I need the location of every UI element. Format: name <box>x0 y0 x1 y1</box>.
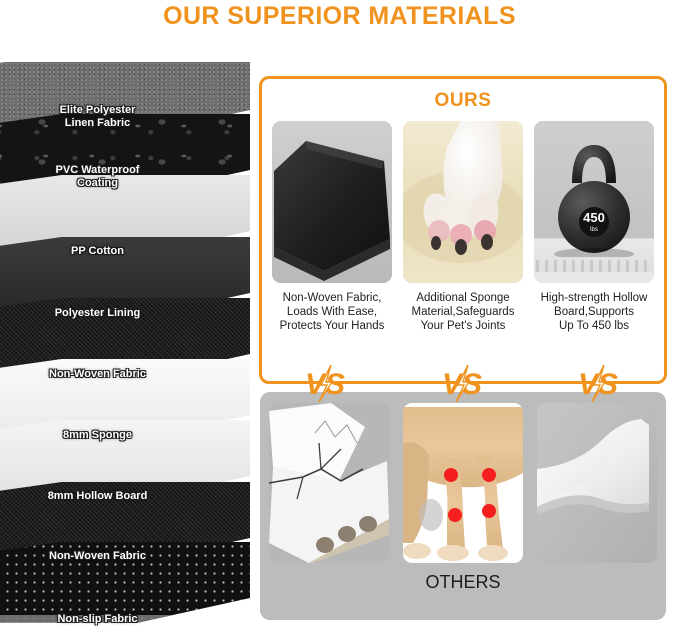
pain-dot <box>482 468 496 482</box>
ours-caption-2: Additional Sponge Material,Safeguards Yo… <box>399 291 527 333</box>
others-heading: OTHERS <box>260 572 666 593</box>
cracked-board-illustration <box>269 403 389 563</box>
kettlebell-weight-unit: lbs <box>590 227 598 233</box>
others-panel: OTHERS <box>260 392 666 620</box>
pain-dot <box>482 504 496 518</box>
ours-photo-row: 450 lbs <box>262 121 664 283</box>
caption-line: Board,Supports <box>530 305 658 319</box>
layer-label-non-slip-fabric: Non-slip Fabric <box>0 613 195 626</box>
layer-label-line: Non-slip Fabric <box>0 613 195 626</box>
caption-line: Up To 450 lbs <box>530 319 658 333</box>
ours-heading: OURS <box>262 90 664 112</box>
layer-label-line: Elite Polyester <box>0 104 195 117</box>
dog-paw-on-sponge-photo[interactable] <box>403 121 523 283</box>
ours-caption-row: Non-Woven Fabric, Loads With Ease, Prote… <box>262 291 664 333</box>
caption-line: Additional Sponge <box>399 291 527 305</box>
layer-label-elite-polyester-linen-fabric: Elite Polyester Linen Fabric <box>0 104 195 130</box>
dog-joint-pain-points-photo[interactable] <box>403 403 523 563</box>
layer-label-line: PVC Waterproof <box>0 164 195 177</box>
dog-paw-illustration <box>403 121 523 283</box>
layer-label-line: Coating <box>0 177 195 190</box>
bent-board-illustration <box>537 403 657 563</box>
layer-label-line: 8mm Hollow Board <box>0 490 195 503</box>
caption-line: Material,Safeguards <box>399 305 527 319</box>
caption-line: Non-Woven Fabric, <box>268 291 396 305</box>
pain-dot <box>444 468 458 482</box>
kettlebell-illustration: 450 lbs <box>534 121 654 283</box>
layer-label-line: Non-Woven Fabric <box>0 550 195 563</box>
ours-caption-3: High-strength Hollow Board,Supports Up T… <box>530 291 658 333</box>
layer-label-pp-cotton: PP Cotton <box>0 245 195 258</box>
cracked-hollow-board-photo[interactable] <box>269 403 389 563</box>
kettlebell-450lbs-photo[interactable]: 450 lbs <box>534 121 654 283</box>
folded-black-mat-photo[interactable] <box>272 121 392 283</box>
material-layer-diagram: Elite Polyester Linen Fabric PVC Waterpr… <box>0 62 250 640</box>
layer-label-8mm-sponge: 8mm Sponge <box>0 429 195 442</box>
folded-mat-illustration <box>272 121 392 283</box>
caption-line: Your Pet's Joints <box>399 319 527 333</box>
layer-label-non-woven-fabric-lower: Non-Woven Fabric <box>0 550 195 563</box>
ours-caption-1: Non-Woven Fabric, Loads With Ease, Prote… <box>268 291 396 333</box>
layer-label-line: 8mm Sponge <box>0 429 195 442</box>
ours-panel: OURS <box>259 76 667 384</box>
kettlebell-weight-value: 450 <box>583 210 605 225</box>
layer-label-non-woven-fabric-upper: Non-Woven Fabric <box>0 368 195 381</box>
warped-bent-board-photo[interactable] <box>537 403 657 563</box>
page-title: OUR SUPERIOR MATERIALS <box>0 2 679 31</box>
caption-line: High-strength Hollow <box>530 291 658 305</box>
dog-legs-illustration <box>403 403 523 563</box>
layer-label-pvc-waterproof-coating: PVC Waterproof Coating <box>0 164 195 190</box>
layer-label-8mm-hollow-board: 8mm Hollow Board <box>0 490 195 503</box>
caption-line: Protects Your Hands <box>268 319 396 333</box>
layer-label-line: Polyester Lining <box>0 307 195 320</box>
layer-label-line: Non-Woven Fabric <box>0 368 195 381</box>
others-photo-row <box>260 403 666 563</box>
layer-label-line: Linen Fabric <box>0 117 195 130</box>
caption-line: Loads With Ease, <box>268 305 396 319</box>
layer-label-polyester-lining: Polyester Lining <box>0 307 195 320</box>
pain-dot <box>448 508 462 522</box>
layer-label-line: PP Cotton <box>0 245 195 258</box>
